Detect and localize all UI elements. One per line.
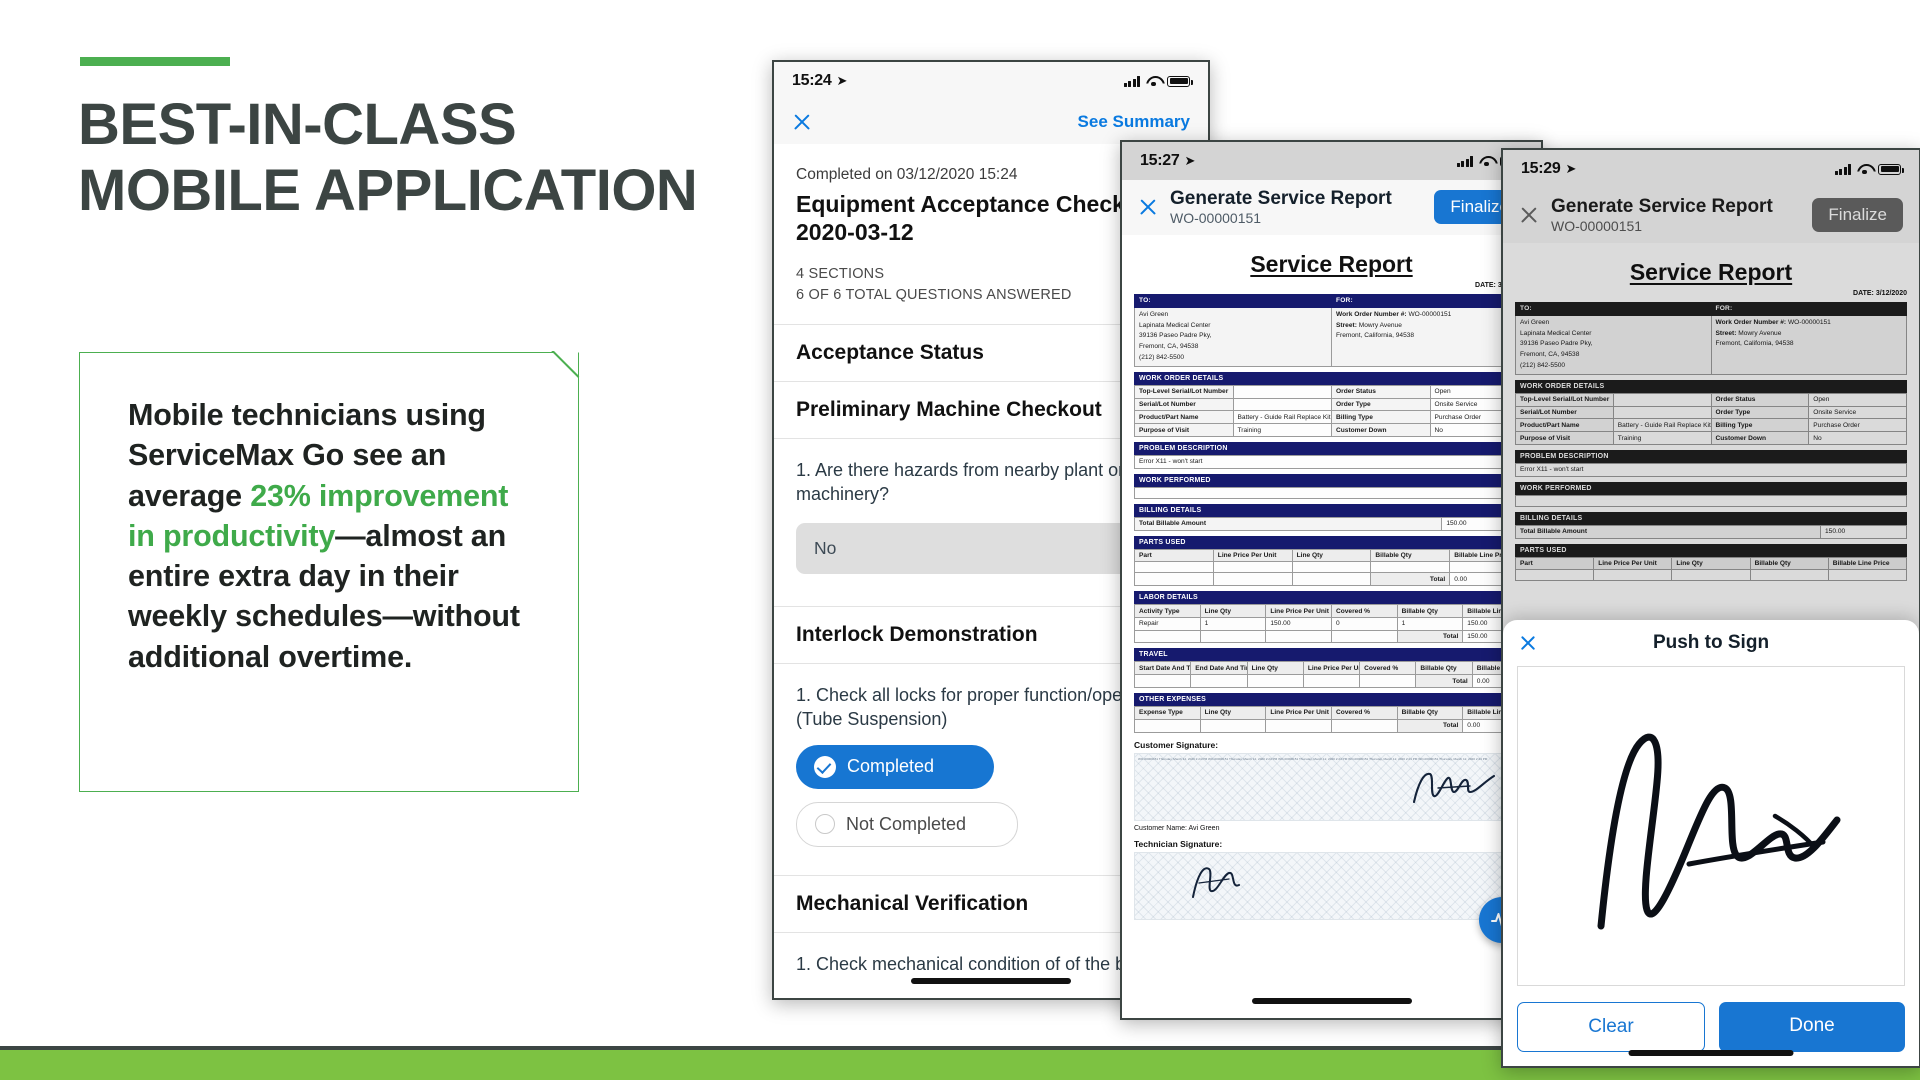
work-order-details-table: Top-Level Serial/Lot NumberOrder StatusO… xyxy=(1134,385,1529,437)
billing-details-table: Total Billable Amount150.00 xyxy=(1134,517,1529,531)
other-expenses-table: Expense Type Line Qty Line Price Per Uni… xyxy=(1134,706,1529,733)
location-arrow-icon: ➤ xyxy=(1184,153,1195,169)
close-icon[interactable] xyxy=(1519,634,1537,652)
travel-header: TRAVEL xyxy=(1134,648,1529,661)
table-header-row: Part Line Price Per Unit Line Qty Billab… xyxy=(1135,549,1529,562)
table-row: Purpose of VisitTrainingCustomer DownNo xyxy=(1516,432,1907,445)
phone-push-to-sign: 15:29 ➤ Generate Service Report WO-00000… xyxy=(1501,148,1920,1068)
home-indicator xyxy=(1629,1050,1794,1056)
wifi-icon xyxy=(1479,156,1494,167)
labor-details-header: LABOR DETAILS xyxy=(1134,591,1529,604)
headline-line-1: BEST-IN-CLASS xyxy=(78,92,798,158)
status-bar: 15:24 ➤ xyxy=(774,62,1208,100)
wifi-icon xyxy=(1146,76,1161,87)
customer-name-label: Customer Name: Avi Green xyxy=(1134,825,1529,832)
check-circle-icon xyxy=(814,756,836,778)
other-expenses-header: OTHER EXPENSES xyxy=(1134,693,1529,706)
home-indicator xyxy=(911,978,1071,984)
total-row: Total0.00 xyxy=(1135,719,1529,732)
table-row: Top-Level Serial/Lot NumberOrder StatusO… xyxy=(1516,393,1907,406)
signature-ink xyxy=(1561,696,1861,956)
work-order-details-table: Top-Level Serial/Lot NumberOrder StatusO… xyxy=(1515,393,1907,445)
for-block: Work Order Number #: WO-00000151 Street:… xyxy=(1711,315,1907,374)
problem-description-value: Error X11 - won't start xyxy=(1516,463,1907,476)
push-to-sign-sheet: Push to Sign Clear Done xyxy=(1503,620,1919,1066)
customer-signature-area[interactable]: WO-00000151 Thursday, March 12, 2020 2:2… xyxy=(1134,753,1529,821)
clear-button[interactable]: Clear xyxy=(1517,1002,1705,1052)
signal-icon xyxy=(1124,76,1141,87)
problem-description-header: PROBLEM DESCRIPTION xyxy=(1134,442,1529,455)
signal-icon xyxy=(1457,156,1474,167)
table-row: Total Billable Amount150.00 xyxy=(1516,525,1907,538)
parts-used-table: Part Line Price Per Unit Line Qty Billab… xyxy=(1515,557,1907,582)
problem-description-header: PROBLEM DESCRIPTION xyxy=(1515,450,1907,463)
to-address: Avi Green Lapinata Medical Center 39136 … xyxy=(1516,315,1712,374)
option-completed-label: Completed xyxy=(847,756,934,777)
problem-description-value: Error X11 - won't start xyxy=(1135,455,1529,468)
headline-line-2: MOBILE APPLICATION xyxy=(78,158,798,224)
parts-used-table: Part Line Price Per Unit Line Qty Billab… xyxy=(1134,549,1529,587)
report-title: Generate Service Report xyxy=(1551,196,1773,217)
battery-icon xyxy=(1878,164,1901,175)
document-date: DATE: 3/12/2020 xyxy=(1134,282,1529,289)
parts-used-header: PARTS USED xyxy=(1134,536,1529,549)
document-date: DATE: 3/12/2020 xyxy=(1515,290,1907,297)
signature-canvas[interactable] xyxy=(1517,666,1905,986)
corner-notch-line xyxy=(542,351,580,389)
close-icon[interactable] xyxy=(792,112,812,132)
for-header: FOR: xyxy=(1332,294,1529,307)
work-order-details-header: WORK ORDER DETAILS xyxy=(1134,372,1529,385)
option-not-completed[interactable]: Not Completed xyxy=(796,802,1018,847)
for-header: FOR: xyxy=(1711,302,1907,315)
status-bar: 15:29 ➤ xyxy=(1503,150,1919,188)
total-row: Total0.00 xyxy=(1135,573,1529,586)
table-row: Product/Part NameBattery - Guide Rail Re… xyxy=(1516,419,1907,432)
work-order-number: WO-00000151 xyxy=(1551,219,1773,235)
technician-signature-ink xyxy=(1185,859,1255,903)
for-block: Work Order Number #: WO-00000151 Street:… xyxy=(1332,307,1529,366)
document-title: Service Report xyxy=(1134,251,1529,278)
location-arrow-icon: ➤ xyxy=(1565,161,1576,177)
table-header-row: Start Date And Time End Date And Time Li… xyxy=(1135,662,1529,675)
to-for-table: TO: FOR: Avi Green Lapinata Medical Cent… xyxy=(1134,294,1529,367)
document-title: Service Report xyxy=(1515,259,1907,286)
option-not-completed-label: Not Completed xyxy=(846,814,966,835)
technician-signature-area[interactable] xyxy=(1134,852,1529,920)
travel-table: Start Date And Time End Date And Time Li… xyxy=(1134,661,1529,688)
to-header: TO: xyxy=(1135,294,1332,307)
empty-circle-icon xyxy=(815,814,835,834)
close-icon[interactable] xyxy=(1138,197,1158,217)
table-row: Serial/Lot NumberOrder TypeOnsite Servic… xyxy=(1516,406,1907,419)
location-arrow-icon: ➤ xyxy=(836,73,847,89)
report-title: Generate Service Report xyxy=(1170,188,1392,209)
work-performed-header: WORK PERFORMED xyxy=(1515,482,1907,495)
total-row: Total0.00 xyxy=(1135,675,1529,688)
table-row: Top-Level Serial/Lot NumberOrder StatusO… xyxy=(1135,385,1529,398)
option-completed[interactable]: Completed xyxy=(796,745,994,789)
phone-service-report: 15:27 ➤ Generate Service Report WO-00000… xyxy=(1120,140,1543,1020)
to-address: Avi Green Lapinata Medical Center 39136 … xyxy=(1135,307,1332,366)
close-icon[interactable] xyxy=(1519,205,1539,225)
technician-signature-label: Technician Signature: xyxy=(1134,839,1529,849)
table-row: Serial/Lot NumberOrder TypeOnsite Servic… xyxy=(1135,398,1529,411)
table-header-row: Expense Type Line Qty Line Price Per Uni… xyxy=(1135,707,1529,720)
status-time: 15:27 xyxy=(1140,152,1179,170)
signal-icon xyxy=(1835,164,1852,175)
work-performed-table xyxy=(1134,487,1529,499)
table-header-row: Activity Type Line Qty Line Price Per Un… xyxy=(1135,605,1529,618)
service-report-document: Service Report DATE: 3/12/2020 TO: FOR: … xyxy=(1122,235,1541,1015)
quote-text: Mobile technicians using ServiceMax Go s… xyxy=(128,395,528,677)
parts-used-header: PARTS USED xyxy=(1515,544,1907,557)
problem-description-table: Error X11 - won't start xyxy=(1134,455,1529,469)
work-performed-table xyxy=(1515,495,1907,507)
billing-details-header: BILLING DETAILS xyxy=(1134,504,1529,517)
customer-signature-label: Customer Signature: xyxy=(1134,740,1529,750)
work-order-number: WO-00000151 xyxy=(1170,211,1392,227)
checklist-navbar: See Summary xyxy=(774,100,1208,144)
quote-callout: Mobile technicians using ServiceMax Go s… xyxy=(79,352,579,792)
slide-canvas: BEST-IN-CLASS MOBILE APPLICATION Mobile … xyxy=(0,0,1920,1080)
table-row: Repair 1 150.00 0 1 150.00 xyxy=(1135,617,1529,630)
sheet-title: Push to Sign xyxy=(1503,632,1919,654)
work-performed-header: WORK PERFORMED xyxy=(1134,474,1529,487)
report-navbar: Generate Service Report WO-00000151 Fina… xyxy=(1122,180,1541,235)
to-header: TO: xyxy=(1516,302,1712,315)
labor-details-table: Activity Type Line Qty Line Price Per Un… xyxy=(1134,604,1529,643)
billing-details-table: Total Billable Amount150.00 xyxy=(1515,525,1907,539)
problem-description-table: Error X11 - won't start xyxy=(1515,463,1907,477)
total-row: Total150.00 xyxy=(1135,630,1529,643)
table-row: Total Billable Amount150.00 xyxy=(1135,517,1529,530)
table-header-row: Part Line Price Per Unit Line Qty Billab… xyxy=(1516,557,1907,570)
to-for-table: TO: FOR: Avi Green Lapinata Medical Cent… xyxy=(1515,302,1907,375)
see-summary-link[interactable]: See Summary xyxy=(1078,112,1190,132)
table-row: Product/Part NameBattery - Guide Rail Re… xyxy=(1135,411,1529,424)
billing-details-header: BILLING DETAILS xyxy=(1515,512,1907,525)
report-navbar: Generate Service Report WO-00000151 Fina… xyxy=(1503,188,1919,243)
wifi-icon xyxy=(1857,164,1872,175)
accent-bar xyxy=(80,57,230,66)
finalize-button[interactable]: Finalize xyxy=(1812,198,1903,232)
work-performed-value xyxy=(1135,487,1529,498)
status-time: 15:24 xyxy=(792,72,831,90)
work-order-details-header: WORK ORDER DETAILS xyxy=(1515,380,1907,393)
sheet-header: Push to Sign xyxy=(1503,620,1919,662)
status-bar: 15:27 ➤ xyxy=(1122,142,1541,180)
status-time: 15:29 xyxy=(1521,160,1560,178)
battery-icon xyxy=(1167,76,1190,87)
table-row: Purpose of VisitTrainingCustomer DownNo xyxy=(1135,424,1529,437)
home-indicator xyxy=(1252,998,1412,1004)
customer-signature-ink xyxy=(1408,762,1498,808)
done-button[interactable]: Done xyxy=(1719,1002,1905,1052)
page-title: BEST-IN-CLASS MOBILE APPLICATION xyxy=(78,92,798,224)
